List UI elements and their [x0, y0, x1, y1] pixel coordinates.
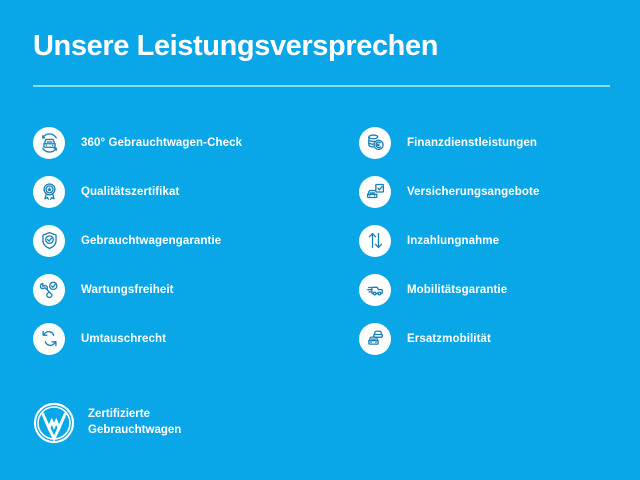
feature-label: 360° Gebrauchtwagen-Check	[81, 137, 242, 149]
feature-item-finanzdienstleistungen[interactable]: Finanzdienstleistungen	[359, 118, 629, 167]
feature-item-gebrauchtwagengarantie[interactable]: Gebrauchtwagengarantie	[33, 216, 333, 265]
feature-label: Gebrauchtwagengarantie	[81, 235, 221, 247]
feature-item-wartungsfreiheit[interactable]: Wartungsfreiheit	[33, 265, 333, 314]
footer-text: Zertifizierte Gebrauchtwagen	[88, 407, 181, 438]
two-cars-icon	[359, 323, 391, 355]
feature-item-versicherungsangebote[interactable]: Versicherungsangebote	[359, 167, 629, 216]
feature-item-qualitaetszertifikat[interactable]: Qualitätszertifikat	[33, 167, 333, 216]
feature-column-left: 360° Gebrauchtwagen-Check Qualitätszerti…	[33, 118, 333, 363]
tow-truck-icon	[359, 274, 391, 306]
feature-label: Ersatzmobilität	[407, 333, 491, 345]
feature-item-umtauschrecht[interactable]: Umtauschrecht	[33, 314, 333, 363]
shield-check-icon	[33, 225, 65, 257]
wrench-check-icon	[33, 274, 65, 306]
feature-label: Inzahlungnahme	[407, 235, 499, 247]
vw-logo	[33, 402, 75, 444]
car-document-check-icon	[359, 176, 391, 208]
leistungsversprechen-slide: Unsere Leistungsversprechen	[0, 0, 640, 480]
title-divider	[33, 85, 610, 87]
footer-line-2: Gebrauchtwagen	[88, 424, 181, 436]
feature-columns: 360° Gebrauchtwagen-Check Qualitätszerti…	[0, 118, 640, 363]
award-rosette-icon	[33, 176, 65, 208]
feature-item-gebrauchtwagen-check[interactable]: 360° Gebrauchtwagen-Check	[33, 118, 333, 167]
feature-column-right: Finanzdienstleistungen Versicherungsange…	[359, 118, 629, 363]
feature-label: Finanzdienstleistungen	[407, 137, 537, 149]
coins-euro-icon	[359, 127, 391, 159]
feature-item-mobilitaetsgarantie[interactable]: Mobilitätsgarantie	[359, 265, 629, 314]
footer-line-1: Zertifizierte	[88, 408, 150, 420]
feature-label: Qualitätszertifikat	[81, 186, 179, 198]
feature-label: Mobilitätsgarantie	[407, 284, 507, 296]
header: Unsere Leistungsversprechen	[33, 30, 610, 87]
feature-label: Versicherungsangebote	[407, 186, 539, 198]
feature-item-ersatzmobilitaet[interactable]: Ersatzmobilität	[359, 314, 629, 363]
exchange-arrows-icon	[33, 323, 65, 355]
arrows-up-down-icon	[359, 225, 391, 257]
feature-label: Umtauschrecht	[81, 333, 166, 345]
page-title: Unsere Leistungsversprechen	[33, 30, 610, 63]
car-360-check-icon	[33, 127, 65, 159]
footer-logo-lockup: Zertifizierte Gebrauchtwagen	[33, 402, 181, 444]
feature-item-inzahlungnahme[interactable]: Inzahlungnahme	[359, 216, 629, 265]
feature-label: Wartungsfreiheit	[81, 284, 174, 296]
